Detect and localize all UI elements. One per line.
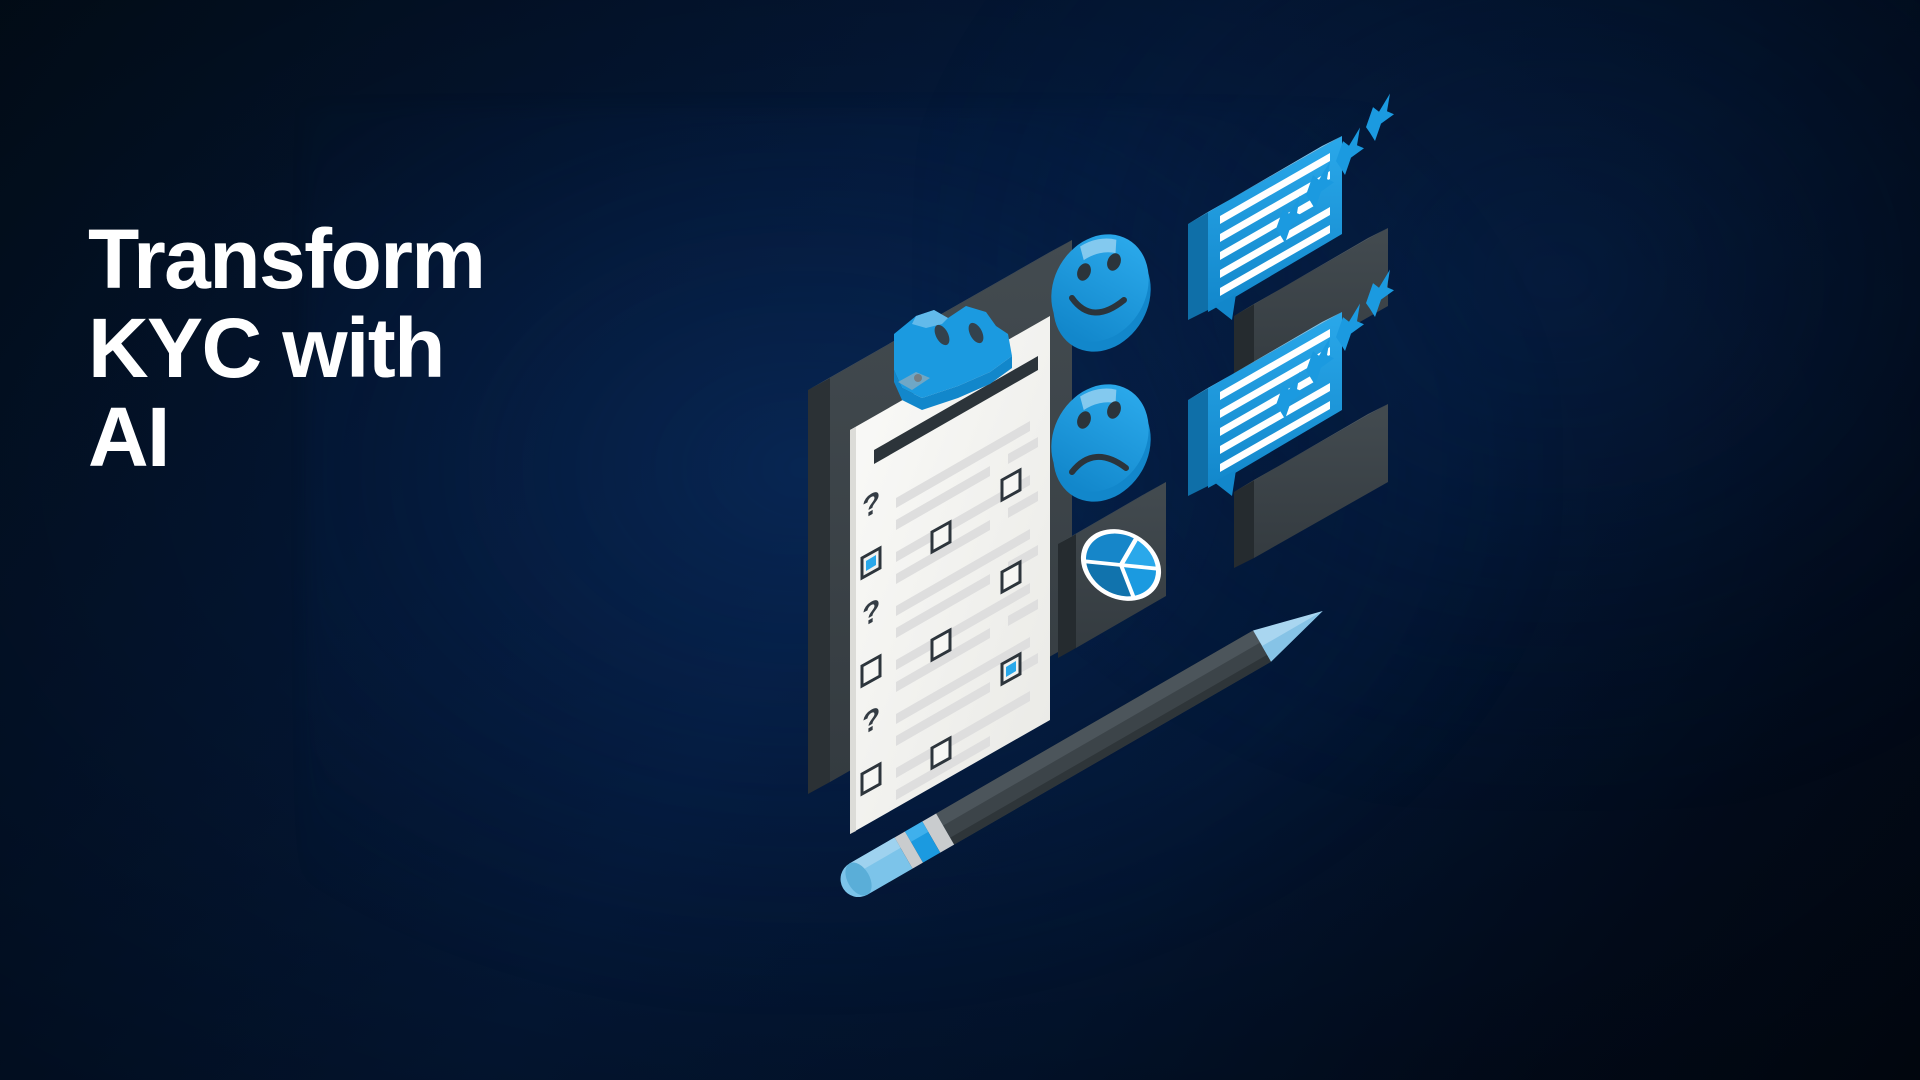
page-title: Transform KYC with AI xyxy=(88,215,728,482)
clipboard-paper-edge xyxy=(850,427,856,834)
headline-line-1: Transform xyxy=(88,212,484,306)
pie-chart-card xyxy=(1058,482,1174,658)
headline-line-3: AI xyxy=(88,390,169,484)
clipboard-left-edge xyxy=(808,378,830,794)
clipboard: ? ? ? xyxy=(808,240,1072,834)
headline-line-2: KYC with xyxy=(88,301,444,395)
kyc-isometric-illustration: ? ? ? xyxy=(790,120,1410,920)
